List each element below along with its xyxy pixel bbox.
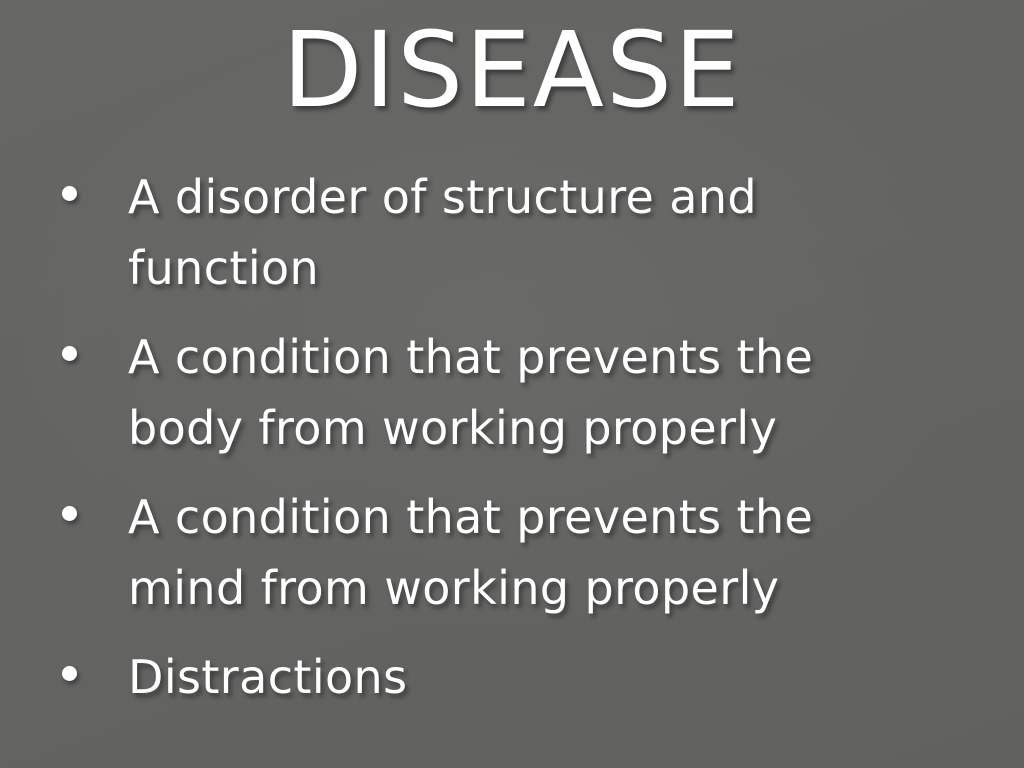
dot-bullet-icon <box>62 666 77 681</box>
list-item-label: A condition that prevents the body from … <box>128 322 918 464</box>
presentation-slide: DISEASE A disorder of structure and func… <box>0 0 1024 768</box>
dot-bullet-icon <box>62 506 77 521</box>
list-item-label: A condition that prevents the mind from … <box>128 482 918 624</box>
list-item: A condition that prevents the mind from … <box>50 482 980 624</box>
page-title: DISEASE <box>0 14 1024 126</box>
list-item-label: A disorder of structure and function <box>128 162 918 304</box>
list-item: A disorder of structure and function <box>50 162 980 304</box>
list-item: A condition that prevents the body from … <box>50 322 980 464</box>
list-item-label: Distractions <box>128 642 918 713</box>
bullet-list: A disorder of structure and function A c… <box>50 162 980 713</box>
dot-bullet-icon <box>62 346 77 361</box>
dot-bullet-icon <box>62 186 77 201</box>
list-item: Distractions <box>50 642 980 713</box>
